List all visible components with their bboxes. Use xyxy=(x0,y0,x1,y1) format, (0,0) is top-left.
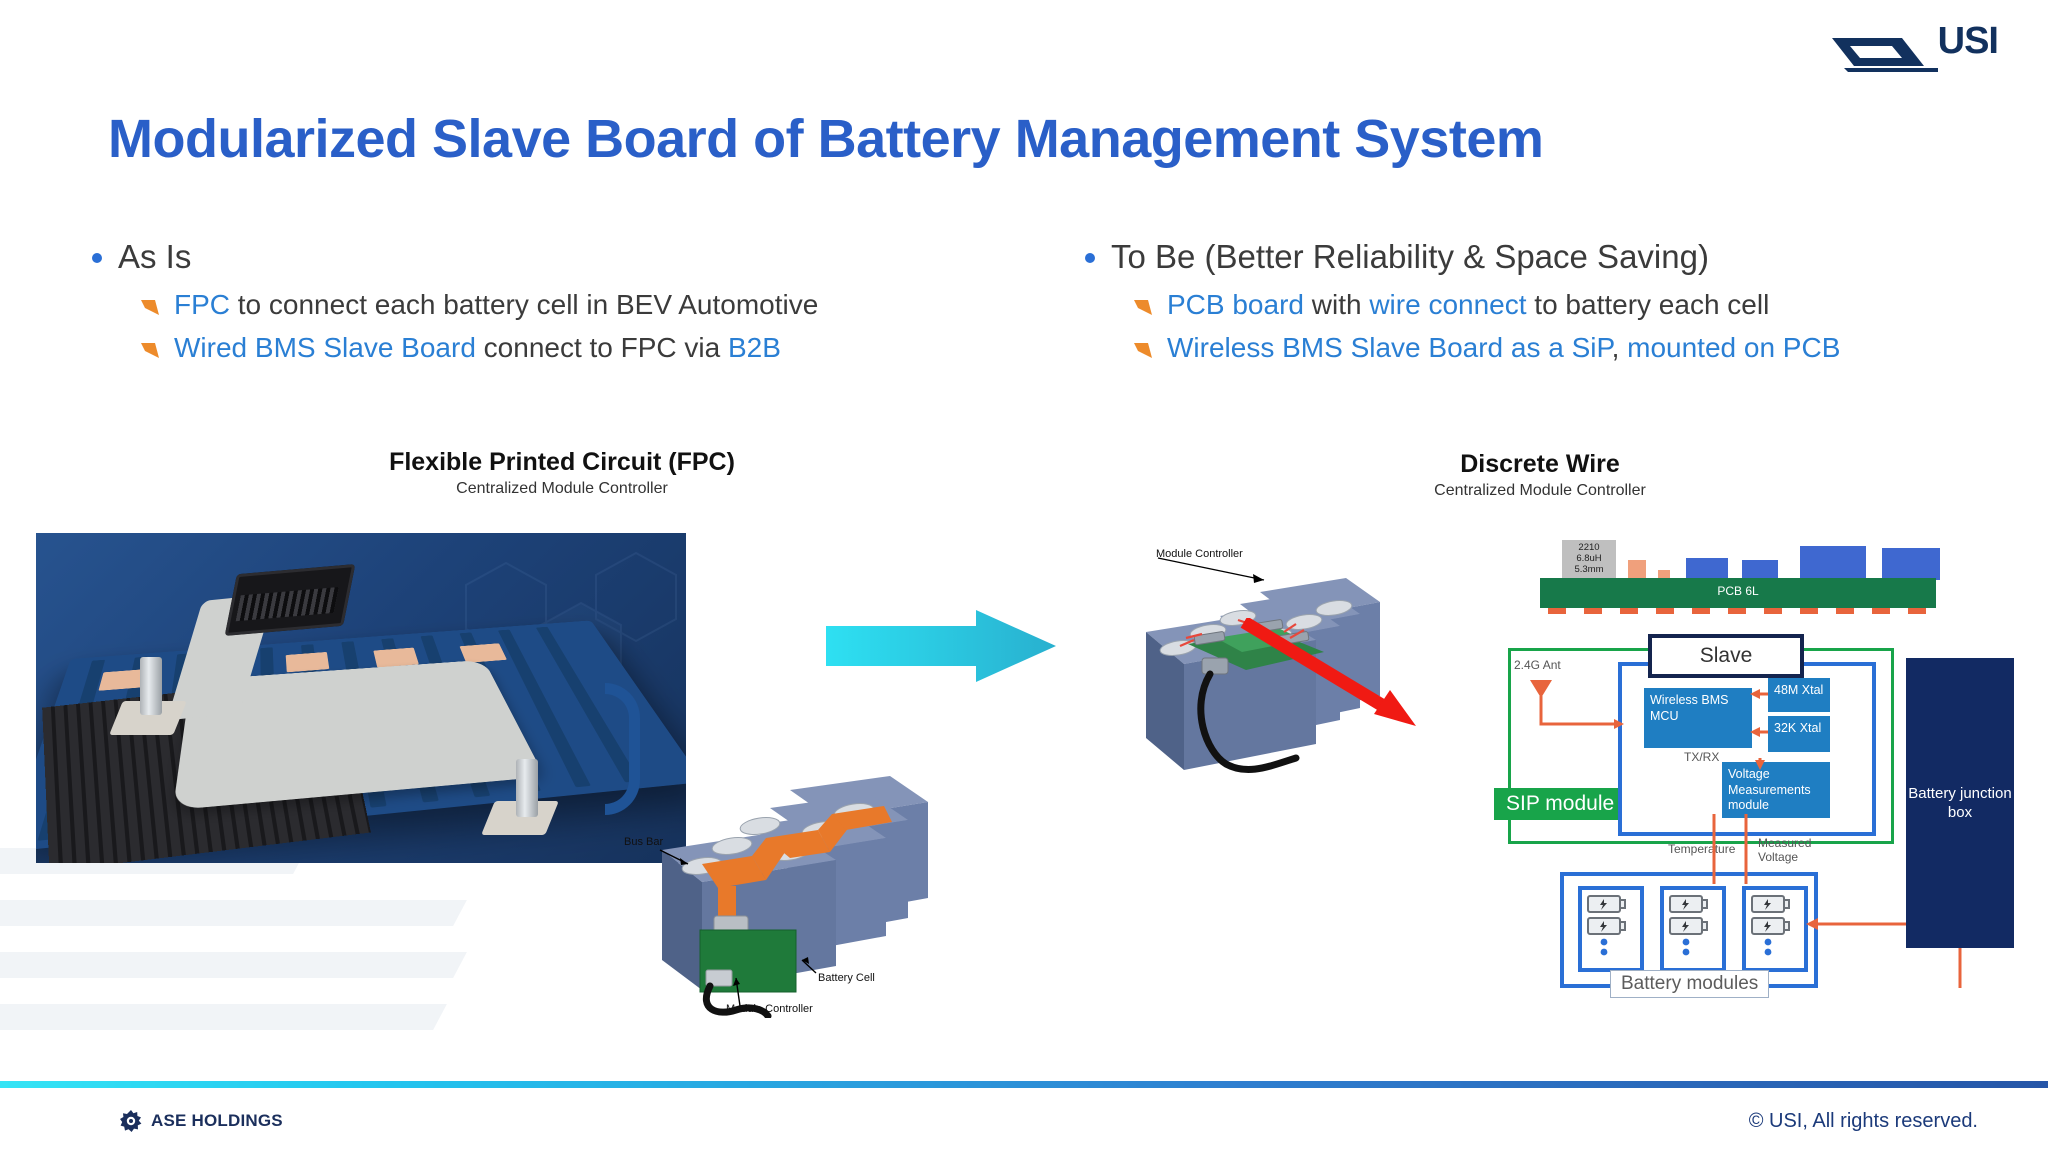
column-as-is: As Is FPC to connect each battery cell i… xyxy=(92,236,1042,372)
battery-module-svg xyxy=(640,768,940,1018)
sip-module-label: SIP module xyxy=(1494,788,1626,820)
fpc-caption-sub: Centralized Module Controller xyxy=(262,480,862,498)
ase-holdings-logo: ASE HOLDINGS xyxy=(120,1110,283,1132)
label-module-controller: Module Controller xyxy=(1156,548,1243,560)
discrete-figure-caption: Discrete Wire Centralized Module Control… xyxy=(1300,450,1780,500)
battery-module xyxy=(1742,886,1808,972)
label-module-controller: Module Controller xyxy=(726,1003,813,1015)
pcb-cross-section: PCB 6L xyxy=(1540,578,1936,608)
antenna-label: 2.4G Ant xyxy=(1514,658,1561,672)
ase-holdings-text: ASE HOLDINGS xyxy=(151,1111,283,1131)
terminal-bolt xyxy=(516,759,538,817)
slave-inner-box: Wireless BMS MCU 48M Xtal 32K Xtal Volta… xyxy=(1618,662,1876,836)
ic-component xyxy=(1882,548,1940,580)
ic-component xyxy=(1800,546,1866,580)
bullet-level2: PCB board with wire connect to battery e… xyxy=(1133,287,2045,323)
label-battery-cell: Battery Cell xyxy=(818,972,875,984)
bullet-level2: FPC to connect each battery cell in BEV … xyxy=(140,287,1042,323)
measured-voltage-label: Measured Voltage xyxy=(1758,836,1818,865)
temperature-label: Temperature xyxy=(1668,842,1735,856)
bullet-level1-to-be: To Be (Better Reliability & Space Saving… xyxy=(1085,236,2045,277)
battery-modules-label: Battery modules xyxy=(1610,970,1769,998)
discrete-caption-sub: Centralized Module Controller xyxy=(1300,482,1780,500)
copyright-text: © USI, All rights reserved. xyxy=(1749,1110,1978,1133)
battery-module-illustration: Bus Bar Module Controller Battery Cell xyxy=(640,768,940,1018)
antenna-trace xyxy=(1530,696,1630,742)
label-bus-bar: Bus Bar xyxy=(624,836,663,848)
as-is-bullet-1: Wired BMS Slave Board connect to FPC via… xyxy=(174,330,781,366)
tray-handle xyxy=(605,683,640,815)
as-is-bullet-0: FPC to connect each battery cell in BEV … xyxy=(174,287,818,323)
fpc-caption-heading: Flexible Printed Circuit (FPC) xyxy=(262,448,862,477)
arrow-bullet-icon xyxy=(140,299,160,317)
arrow-bullet-icon xyxy=(1133,342,1153,360)
ic-component xyxy=(1742,560,1778,580)
inductor-line-2: 5.3mm xyxy=(1564,565,1614,576)
battery-icon xyxy=(1746,890,1796,960)
battery-module xyxy=(1660,886,1726,972)
pcb-label: PCB 6L xyxy=(1540,584,1936,598)
bullet-level1-as-is: As Is xyxy=(92,236,1042,277)
arrow-bullet-icon xyxy=(1133,299,1153,317)
schematic-connectors xyxy=(1622,666,1866,826)
terminal-bolt xyxy=(140,657,162,715)
fpc-connector xyxy=(225,564,356,636)
fpc-battery-photo xyxy=(36,533,686,863)
slide: USI Modularized Slave Board of Battery M… xyxy=(0,0,2048,1152)
battery-junction-box: Battery junction box xyxy=(1906,658,2014,948)
footer-gradient-bar xyxy=(0,1081,2048,1088)
page-title: Modularized Slave Board of Battery Manag… xyxy=(108,108,1908,170)
arrow-bullet-icon xyxy=(140,342,160,360)
usi-logo-text: USI xyxy=(1938,20,1998,63)
to-be-bullet-1: Wireless BMS Slave Board as a SiP, mount… xyxy=(1167,330,1840,366)
battery-icon xyxy=(1664,890,1714,960)
discrete-wire-illustration: Module Controller xyxy=(1128,540,1428,790)
to-be-heading: To Be (Better Reliability & Space Saving… xyxy=(1111,236,1709,277)
bullet-dot-icon xyxy=(1085,253,1095,263)
ic-component xyxy=(1686,558,1728,580)
ase-sun-icon xyxy=(120,1110,142,1132)
to-be-bullet-0: PCB board with wire connect to battery e… xyxy=(1167,287,1769,323)
as-is-heading: As Is xyxy=(118,236,191,277)
bullet-level2: Wired BMS Slave Board connect to FPC via… xyxy=(140,330,1042,366)
wireless-bms-schematic: 2210 6.8uH 5.3mm PCB 6L SIP module Slave… xyxy=(1500,540,2020,1060)
usi-logo: USI xyxy=(1828,22,1998,72)
discrete-caption-heading: Discrete Wire xyxy=(1300,450,1780,479)
battery-icon xyxy=(1582,890,1632,960)
battery-module xyxy=(1578,886,1644,972)
bullet-dot-icon xyxy=(92,253,102,263)
fpc-figure-caption: Flexible Printed Circuit (FPC) Centraliz… xyxy=(262,448,862,498)
transition-arrow-icon xyxy=(826,610,1056,682)
bullet-level2: Wireless BMS Slave Board as a SiP, mount… xyxy=(1133,330,2045,366)
red-zoom-arrow-icon xyxy=(1240,618,1430,738)
column-to-be: To Be (Better Reliability & Space Saving… xyxy=(1085,236,2045,372)
slave-label-box: Slave xyxy=(1648,634,1804,678)
smd-component xyxy=(1628,560,1646,580)
